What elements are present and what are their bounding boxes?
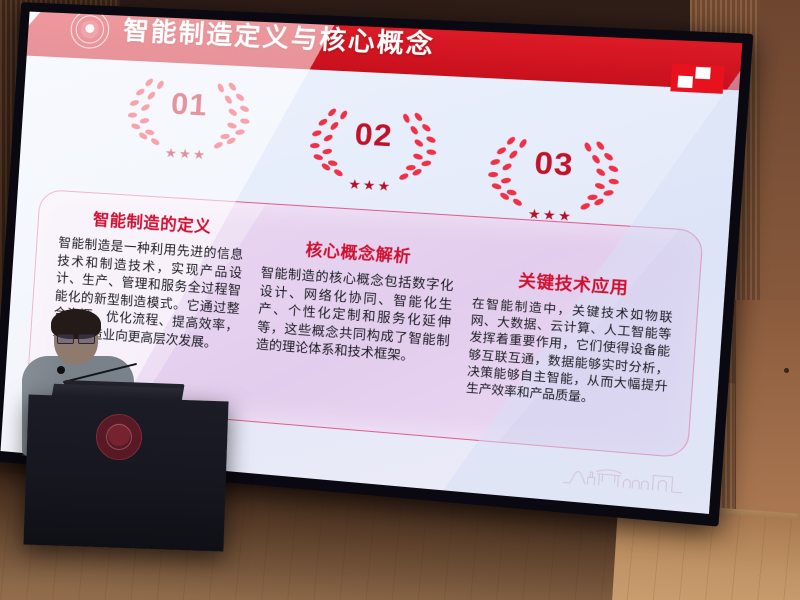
campus-skyline-watermark-icon <box>562 457 687 495</box>
column-heading: 关键技术应用 <box>473 263 676 302</box>
university-seal-icon <box>69 12 110 50</box>
door-handle-icon[interactable] <box>784 368 789 373</box>
seal-inner-glyph <box>80 20 99 39</box>
photo-scene: 智能制造定义与核心概念 <box>0 0 800 600</box>
column-body: 在智能制造中，关键技术如物联网、大数据、云计算、人工智能等发挥着重要作用，它们使… <box>465 296 673 414</box>
content-column-2: 核心概念解析 智能制造的核心概念包括数字化设计、网络化协同、智能化生产、个性化定… <box>242 214 468 438</box>
corner-decoration-icon <box>670 64 724 94</box>
laurel-wreath-icon: 03 <box>469 128 640 215</box>
badge-03: 03 ★★★ <box>468 128 640 227</box>
badge-number: 02 <box>293 114 456 158</box>
laurel-wreath-icon: 02 <box>291 100 457 186</box>
column-heading: 核心概念解析 <box>262 233 456 271</box>
badge-02: 02 ★★★ <box>290 100 456 197</box>
eyeglasses-icon <box>57 334 95 342</box>
badge-01: 01 ★★★ <box>109 70 269 165</box>
badge-number: 01 <box>111 84 268 127</box>
content-column-3: 关键技术应用 在智能制造中，关键技术如物联网、大数据、云计算、人工智能等发挥着重… <box>453 227 688 456</box>
microphone-capsule-icon <box>57 366 65 374</box>
laurel-wreath-icon: 01 <box>110 70 270 154</box>
column-body: 智能制造的核心概念包括数字化设计、网络化协同、智能化生产、个性化定制和服务化延伸… <box>255 264 454 369</box>
column-heading: 智能制造的定义 <box>59 203 246 239</box>
badge-number: 03 <box>470 142 639 187</box>
